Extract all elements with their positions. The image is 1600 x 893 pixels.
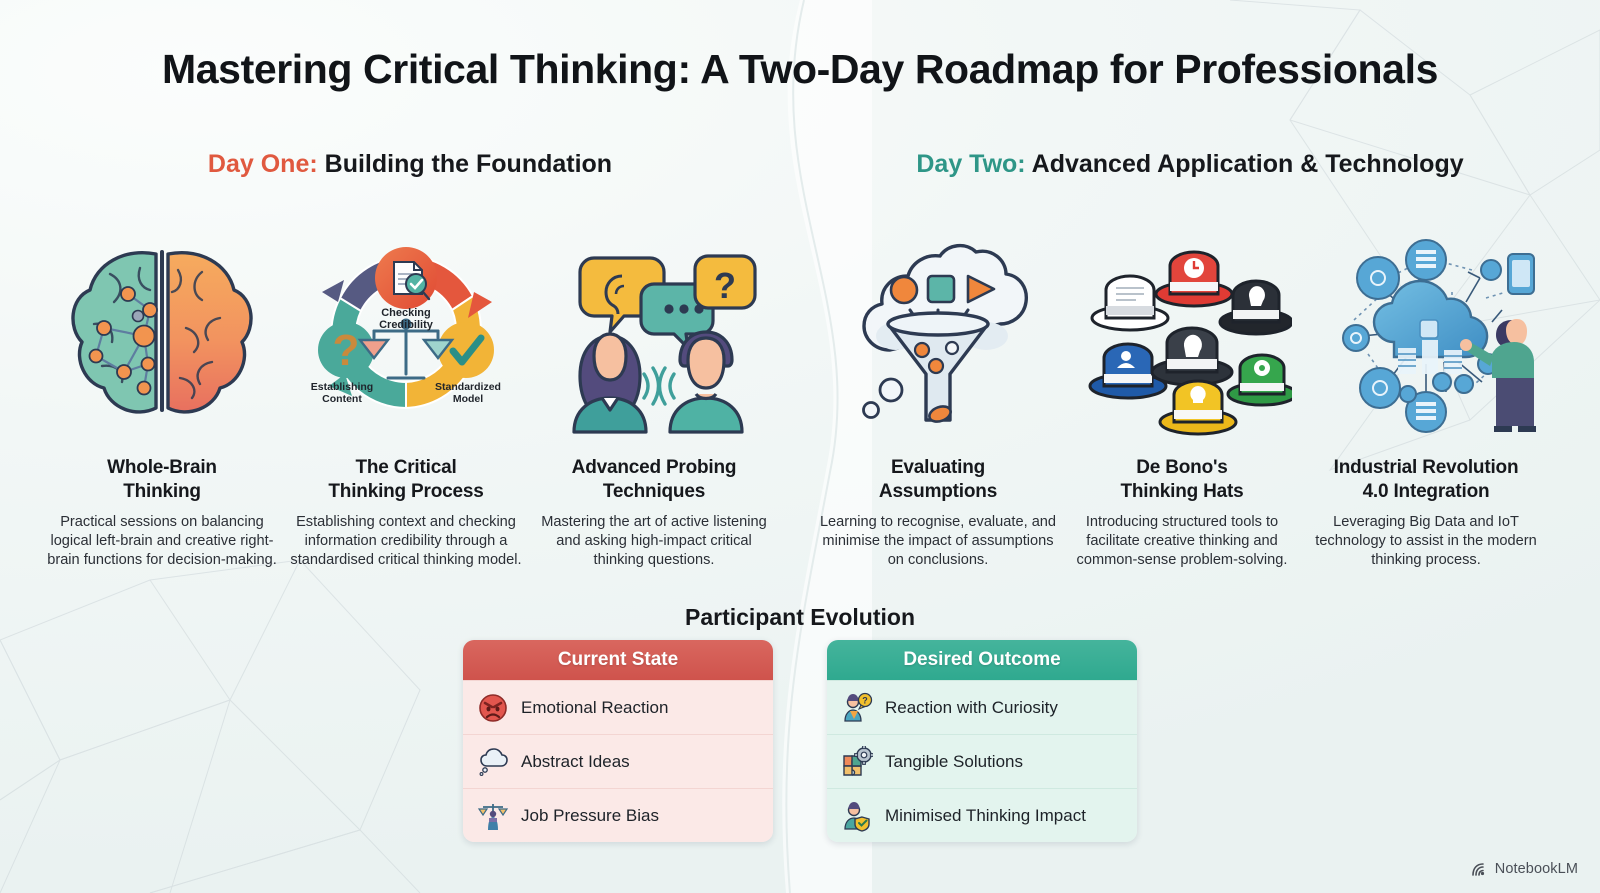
svg-text:Content: Content <box>322 393 362 405</box>
topic-card-thinking-hats: De Bono'sThinking Hats Introducing struc… <box>1062 232 1302 571</box>
table-row: Job Pressure Bias <box>463 788 773 842</box>
person-shield-icon <box>841 800 873 832</box>
table-row: Emotional Reaction <box>463 680 773 734</box>
critical-thinking-cycle-icon: ? Checking Credibility Establishing Cont… <box>296 232 516 442</box>
row-label: Job Pressure Bias <box>521 806 659 826</box>
topic-card-advanced-probing: ? Advanced ProbingTechniques Mastering t… <box>534 232 774 571</box>
table-row: ? Reaction with Curiosity <box>827 680 1137 734</box>
day-two-label: Day Two: <box>916 150 1025 178</box>
cycle-label-establishing-content: Establishing <box>311 381 373 393</box>
topic-card-critical-thinking-process: ? Checking Credibility Establishing Cont… <box>286 232 526 571</box>
topic-body: Learning to recognise, evaluate, and min… <box>818 513 1058 570</box>
row-label: Emotional Reaction <box>521 698 668 718</box>
topic-heading: The CriticalThinking Process <box>328 456 483 504</box>
topic-card-evaluating-assumptions: EvaluatingAssumptions Learning to recogn… <box>818 232 1058 571</box>
notebooklm-logo-icon <box>1471 862 1488 877</box>
svg-text:Model: Model <box>453 393 483 405</box>
current-state-header: Current State <box>463 640 773 680</box>
day-two-text: Advanced Application & Technology <box>1026 150 1464 178</box>
topic-heading: EvaluatingAssumptions <box>879 456 997 504</box>
row-label: Abstract Ideas <box>521 752 630 772</box>
puzzle-gear-icon <box>841 746 873 778</box>
svg-text:?: ? <box>333 326 360 375</box>
row-label: Tangible Solutions <box>885 752 1023 772</box>
topic-body: Mastering the art of active listening an… <box>534 513 774 570</box>
cloud-network-iot-icon <box>1316 232 1536 442</box>
watermark: NotebookLM <box>1471 861 1578 877</box>
topic-card-whole-brain-thinking: Whole-BrainThinking Practical sessions o… <box>42 232 282 571</box>
topic-heading: Industrial Revolution4.0 Integration <box>1334 456 1519 504</box>
angry-face-icon <box>477 692 509 724</box>
page-title: Mastering Critical Thinking: A Two-Day R… <box>0 46 1600 93</box>
scales-person-icon <box>477 800 509 832</box>
svg-text:?: ? <box>862 695 868 705</box>
topic-heading: De Bono'sThinking Hats <box>1120 456 1243 504</box>
desired-outcome-table: Desired Outcome ? Reaction with Curiosit… <box>827 640 1137 842</box>
current-state-table: Current State Emotional Reaction Abstrac… <box>463 640 773 842</box>
participant-evolution-tables: Current State Emotional Reaction Abstrac… <box>0 640 1600 842</box>
topic-heading: Advanced ProbingTechniques <box>572 456 737 504</box>
topic-body: Establishing context and checking inform… <box>286 513 526 570</box>
participant-evolution-title: Participant Evolution <box>0 604 1600 631</box>
desired-outcome-header: Desired Outcome <box>827 640 1137 680</box>
thought-cloud-icon <box>477 746 509 778</box>
topic-body: Introducing structured tools to facilita… <box>1062 513 1302 570</box>
two-people-speech-bubbles-icon: ? <box>544 232 764 442</box>
table-row: Abstract Ideas <box>463 734 773 788</box>
topic-body: Leveraging Big Data and IoT technology t… <box>1306 513 1546 570</box>
thought-cloud-funnel-icon <box>828 232 1048 442</box>
svg-text:Credibility: Credibility <box>379 319 434 331</box>
six-thinking-hats-icon <box>1072 232 1292 442</box>
table-row: Minimised Thinking Impact <box>827 788 1137 842</box>
svg-text:?: ? <box>714 265 736 306</box>
cycle-label-standardized-model: Standardized <box>435 381 501 393</box>
cycle-label-checking-credibility: Checking <box>381 307 431 319</box>
row-label: Reaction with Curiosity <box>885 698 1058 718</box>
table-row: Tangible Solutions <box>827 734 1137 788</box>
person-question-icon: ? <box>841 692 873 724</box>
day-one-subheading: Day One: Building the Foundation <box>60 150 760 179</box>
watermark-label: NotebookLM <box>1495 861 1578 877</box>
day-two-subheading: Day Two: Advanced Application & Technolo… <box>840 150 1540 179</box>
topic-heading: Whole-BrainThinking <box>107 456 217 504</box>
day-one-text: Building the Foundation <box>318 150 612 178</box>
topic-card-industry-4-0: Industrial Revolution4.0 Integration Lev… <box>1306 232 1546 571</box>
whole-brain-icon <box>52 232 272 442</box>
topic-body: Practical sessions on balancing logical … <box>42 513 282 570</box>
row-label: Minimised Thinking Impact <box>885 806 1086 826</box>
day-one-label: Day One: <box>208 150 318 178</box>
